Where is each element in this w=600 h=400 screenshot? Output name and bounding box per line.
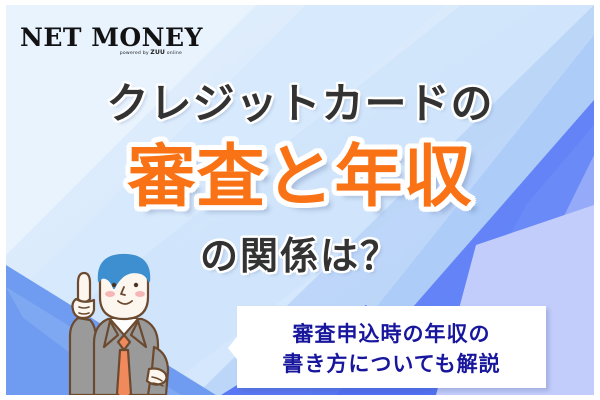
hero-banner: NET MONEY powered by ZUU online クレジットカード… [6, 5, 594, 395]
callout-bubble: 審査申込時の年収の 書き方についても解説 [228, 306, 546, 388]
headline-line-1: クレジットカードの [6, 83, 594, 125]
callout-line-1: 審査申込時の年収の [237, 324, 546, 345]
callout-line-2: 書き方についても解説 [237, 354, 546, 375]
businessman-illustration [54, 251, 194, 395]
headline-line-2-accent: 審査と年収 [6, 144, 594, 212]
